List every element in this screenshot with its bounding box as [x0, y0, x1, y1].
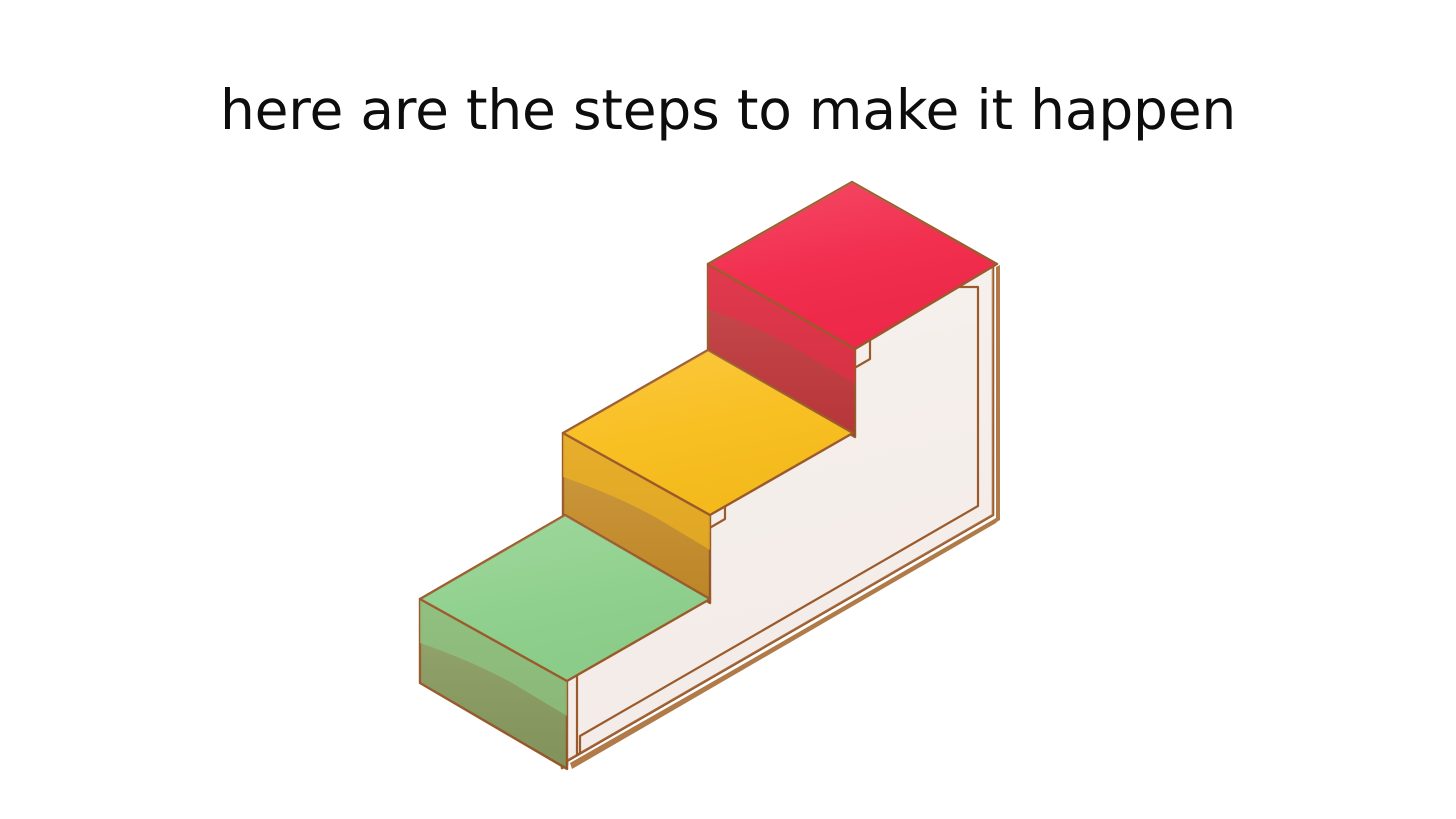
- slide-canvas: here are the steps to make it happen: [0, 0, 1456, 819]
- page-title: here are the steps to make it happen: [0, 81, 1456, 139]
- isometric-staircase-figure: [400, 165, 1020, 790]
- staircase-svg: [400, 165, 1020, 790]
